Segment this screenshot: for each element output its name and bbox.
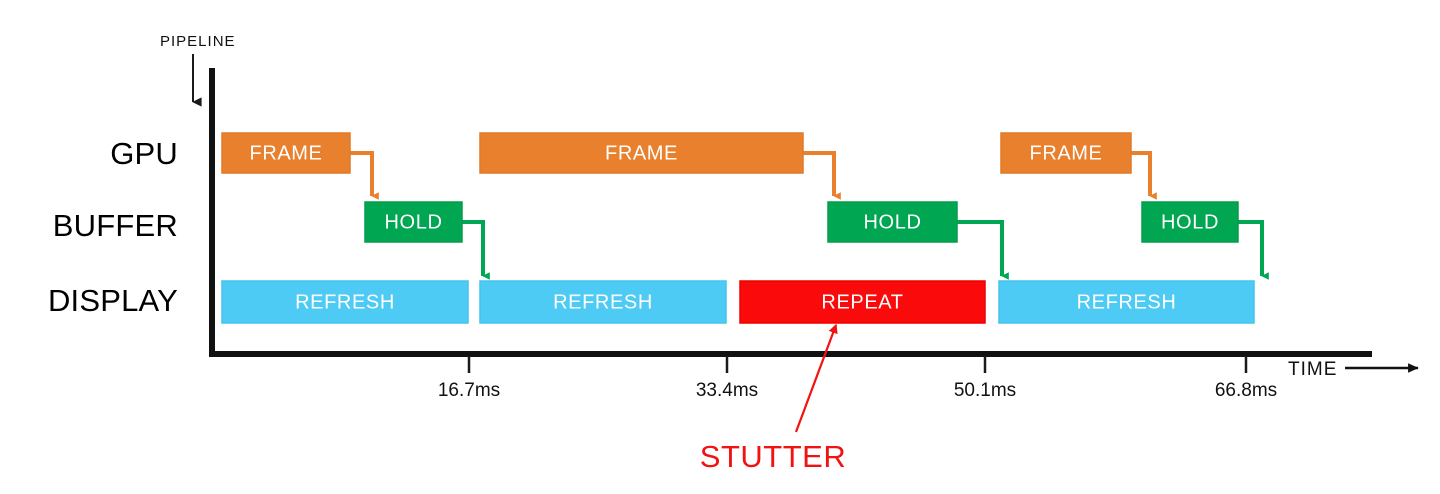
buffer-hold-bar-label: HOLD [864,211,922,233]
connector-buffer-to-display [1238,222,1262,276]
display-bar: REPEAT [740,281,985,323]
axis-ticks: 16.7ms33.4ms50.1ms66.8ms [438,356,1277,401]
display-bar-label: REFRESH [1077,291,1177,313]
gpu-frame-bar-label: FRAME [1030,142,1103,164]
gpu-frame-bar: FRAME [1001,133,1131,173]
axis-tick-label: 66.8ms [1215,380,1277,401]
connector-buffer-to-display [957,222,1002,276]
stutter-label: STUTTER [700,439,846,474]
connector-gpu-to-buffer [1131,153,1150,196]
gpu-frame-bar: FRAME [222,133,350,173]
stutter-arrow-icon [796,325,836,432]
display-bar-label: REFRESH [553,291,653,313]
display-bar: REFRESH [999,281,1254,323]
buffer-hold-bar: HOLD [365,202,462,242]
connector-gpu-to-buffer [803,153,834,196]
buffer-hold-bar: HOLD [1142,202,1238,242]
row-label-gpu: GPU [110,136,178,171]
time-axis-label: TIME [1288,359,1337,380]
frame-pipeline-diagram: PIPELINE TIME 16.7ms33.4ms50.1ms66.8ms G… [0,0,1440,494]
buffer-hold-bar: HOLD [828,202,957,242]
display-bar: REFRESH [222,281,468,323]
row-labels: GPUBUFFERDISPLAY [48,136,178,318]
pipeline-label: PIPELINE [160,33,236,50]
gpu-frame-bar-label: FRAME [605,142,678,164]
connector-gpu-to-buffer [350,153,372,196]
buffer-hold-bar-label: HOLD [385,211,443,233]
connector-buffer-to-display [462,222,483,276]
display-bar-label: REFRESH [295,291,395,313]
axis-tick-label: 50.1ms [954,380,1016,401]
diagram-canvas: PIPELINE TIME 16.7ms33.4ms50.1ms66.8ms G… [0,0,1440,494]
gpu-frame-bar: FRAME [480,133,803,173]
row-label-buffer: BUFFER [53,208,178,243]
gpu-frame-bar-label: FRAME [250,142,323,164]
display-bar-label: REPEAT [821,291,903,313]
axis-tick-label: 33.4ms [696,380,758,401]
timeline-bars: FRAMEFRAMEFRAMEHOLDHOLDHOLDREFRESHREFRES… [222,133,1254,323]
pipeline-annotation: PIPELINE [160,33,236,102]
row-label-display: DISPLAY [48,283,178,318]
axis-tick-label: 16.7ms [438,380,500,401]
display-bar: REFRESH [480,281,726,323]
buffer-hold-bar-label: HOLD [1161,211,1219,233]
